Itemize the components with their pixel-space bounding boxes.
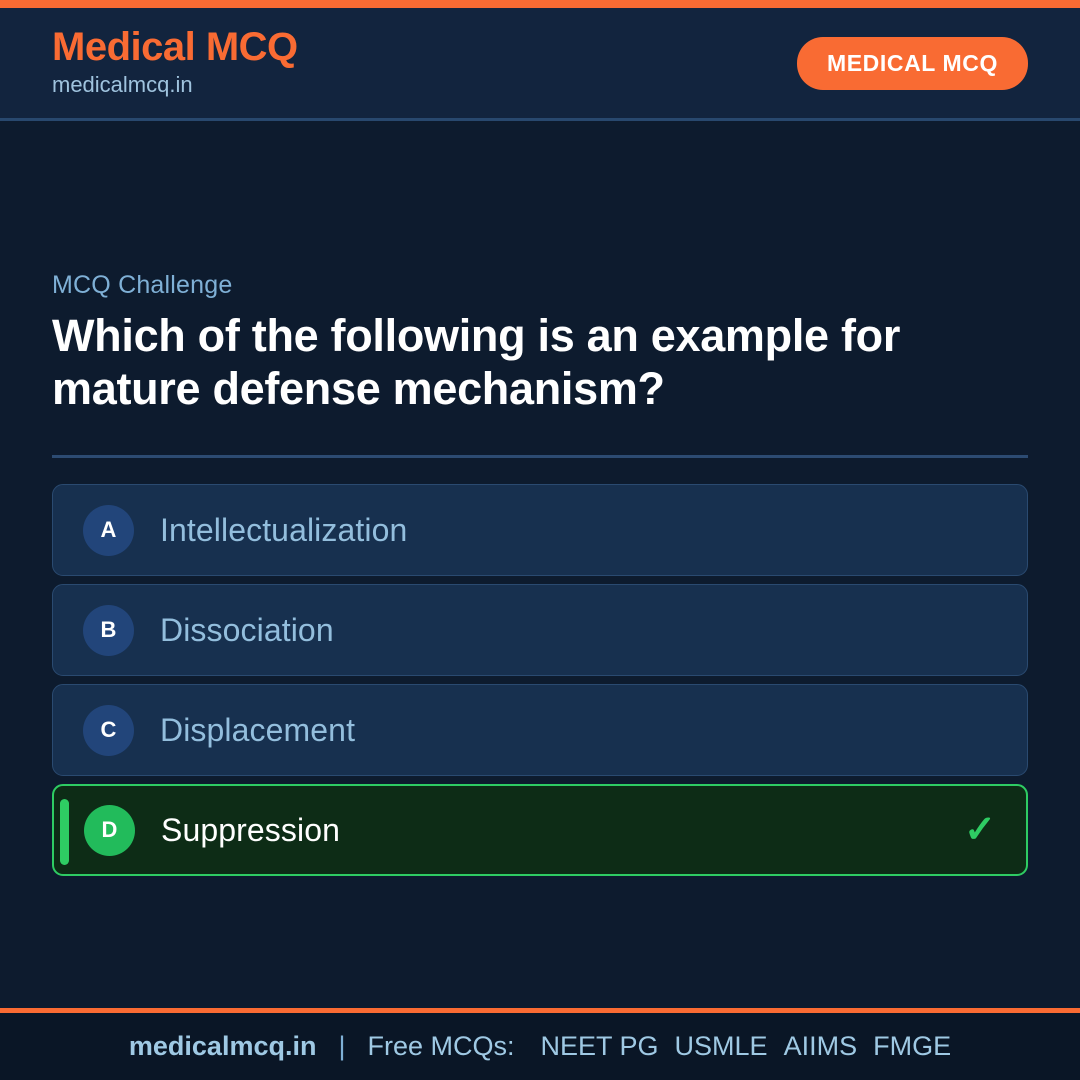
check-icon: ✓: [964, 811, 996, 849]
correct-accent-bar: [60, 799, 69, 865]
option-text: Suppression: [161, 812, 340, 849]
brand-subtitle: medicalmcq.in: [52, 71, 298, 100]
footer-exam-usmle: USMLE: [675, 1031, 768, 1062]
option-letter-badge: C: [83, 705, 134, 756]
option-row-d-correct[interactable]: D Suppression ✓: [52, 784, 1028, 876]
question-block: MCQ Challenge Which of the following is …: [52, 271, 1028, 415]
main-content: MCQ Challenge Which of the following is …: [0, 121, 1080, 1008]
footer-label: Free MCQs:: [367, 1031, 514, 1062]
option-letter-badge: D: [84, 805, 135, 856]
header-badge: MEDICAL MCQ: [797, 37, 1028, 90]
footer-exam-aiims: AIIMS: [784, 1031, 858, 1062]
question-divider: [52, 455, 1028, 458]
footer-exam-fmge: FMGE: [873, 1031, 951, 1062]
brand-title: Medical MCQ: [52, 26, 298, 68]
footer-bar: medicalmcq.in | Free MCQs: NEET PG USMLE…: [0, 1008, 1080, 1080]
option-text: Dissociation: [160, 612, 334, 649]
options-list: A Intellectualization B Dissociation C D…: [52, 484, 1028, 876]
footer-text: medicalmcq.in | Free MCQs: NEET PG USMLE…: [129, 1031, 951, 1062]
option-row-b[interactable]: B Dissociation: [52, 584, 1028, 676]
footer-exam-neet-pg: NEET PG: [541, 1031, 659, 1062]
option-text: Intellectualization: [160, 512, 407, 549]
option-letter-badge: A: [83, 505, 134, 556]
option-letter-badge: B: [83, 605, 134, 656]
brand-block: Medical MCQ medicalmcq.in: [52, 26, 298, 100]
question-text: Which of the following is an example for…: [52, 310, 932, 415]
option-text: Displacement: [160, 712, 355, 749]
mcq-card: Medical MCQ medicalmcq.in MEDICAL MCQ MC…: [0, 0, 1080, 1080]
option-row-c[interactable]: C Displacement: [52, 684, 1028, 776]
footer-site: medicalmcq.in: [129, 1031, 317, 1062]
question-label: MCQ Challenge: [52, 271, 1028, 300]
header-bar: Medical MCQ medicalmcq.in MEDICAL MCQ: [0, 8, 1080, 121]
option-row-a[interactable]: A Intellectualization: [52, 484, 1028, 576]
footer-separator: |: [338, 1031, 345, 1062]
top-accent-bar: [0, 0, 1080, 8]
